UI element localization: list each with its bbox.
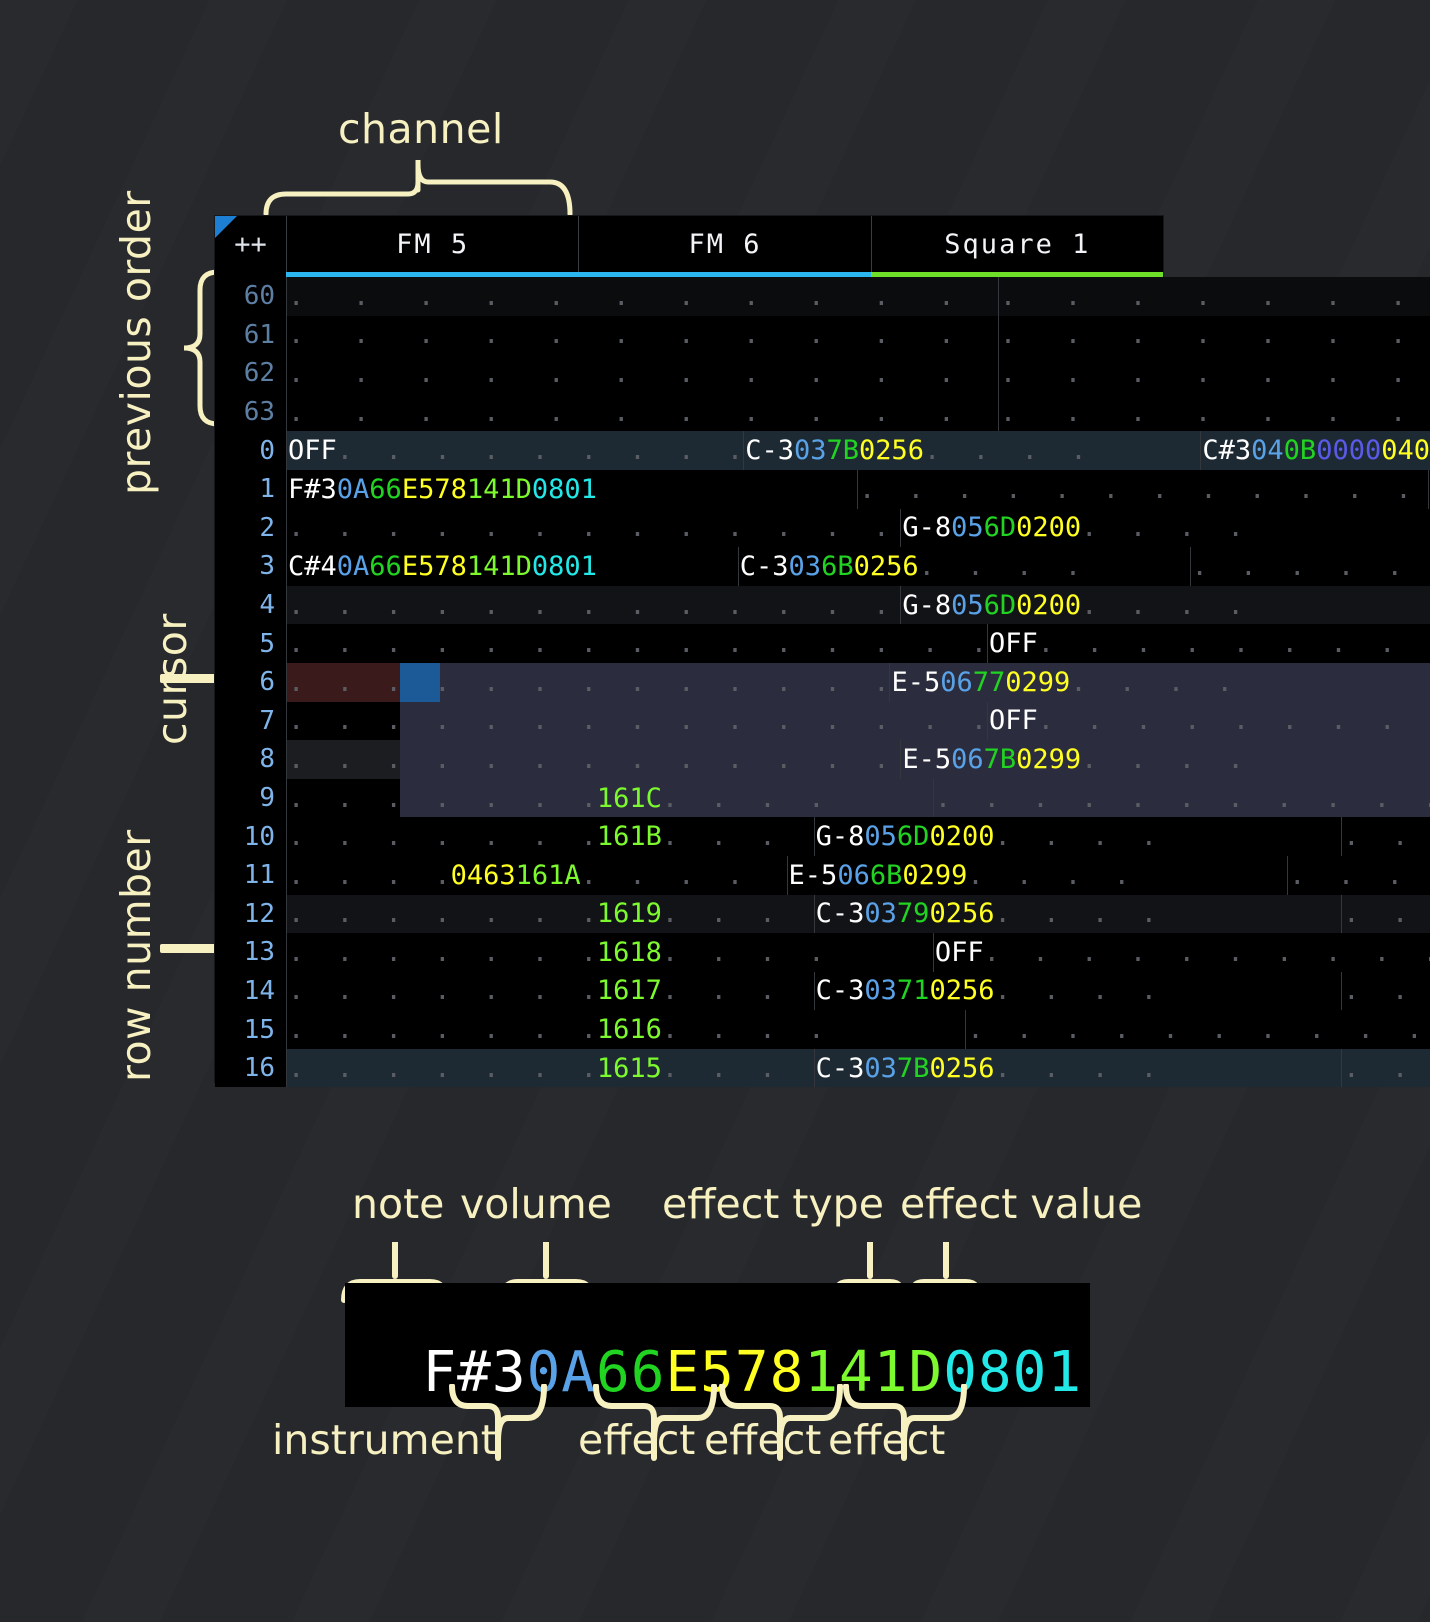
cell-fm6[interactable]: C-3036B0256. . . . (738, 547, 1190, 586)
cell-fm5[interactable]: . . . . . . . . . . . . . . . . . (286, 586, 900, 625)
legend-part-effect2: 141D (804, 1340, 943, 1405)
row-number: 1 (215, 470, 286, 509)
cell-fm6[interactable]: E-5067B0299. . . . (900, 740, 1430, 779)
table-row[interactable]: 12 . . . . . . .1619. . . . C-303790256.… (215, 895, 1163, 934)
table-row[interactable]: 9 . . . . . . .161C. . . . . . . . . . .… (215, 779, 1163, 818)
channel-header-square1[interactable]: Square 1 (871, 216, 1163, 272)
table-row[interactable]: 8 . . . . . . . . . . . . . . . . . E-50… (215, 740, 1163, 779)
annotation-previous-order: previous order (112, 190, 160, 495)
cell-fm6[interactable]: G-8056D0200. . . . (814, 817, 1342, 856)
cell-fm5[interactable]: . . . . . . .161B. . . . (286, 817, 814, 856)
cell-fm6[interactable]: . . . . . . . . . . . (998, 277, 1430, 316)
row-number: 0 (215, 431, 286, 470)
cell-fm6[interactable]: . . . . . . . . . . . . . . . (965, 1010, 1430, 1049)
legend-part-note: F#3 (422, 1340, 526, 1405)
cell-fm5[interactable]: . . . . . . . . . . . . (286, 316, 998, 355)
legend-part-effect1: E578 (665, 1340, 804, 1405)
row-number: 3 (215, 547, 286, 586)
row-number: 14 (215, 972, 286, 1011)
order-indicator-label: ++ (234, 229, 267, 260)
cell-fm5[interactable]: . . . . . . .1619. . . . (286, 895, 814, 934)
row-number: 5 (215, 624, 286, 663)
table-row[interactable]: 62 . . . . . . . . . . . . . . . . . . .… (215, 354, 1163, 393)
cell-fm6[interactable]: . . . . . . . . . . . . . . . (857, 470, 1428, 509)
table-row[interactable]: 7 . . . . . . . . . . . . . . . . . OFF.… (215, 702, 1163, 741)
cell-fm5[interactable]: . . . . . . .1617. . . . (286, 972, 814, 1011)
annotation-channel: channel (338, 105, 504, 153)
legend-label-effect-value: effect value (900, 1180, 1142, 1228)
cell-fm5[interactable]: . . . . . . . . . . . . (286, 277, 998, 316)
order-indicator-cell[interactable]: ++ (215, 216, 286, 272)
cell-fm5[interactable]: F#30A66E578141D0801 (286, 470, 857, 509)
cell-square1[interactable]: . . . . . . . .08. . . . . . . (1190, 547, 1430, 586)
cell-fm5[interactable]: . . . . . . . . . . . . (286, 393, 998, 432)
row-number: 7 (215, 702, 286, 741)
table-row[interactable]: 3 C#40A66E578141D0801 C-3036B0256. . . .… (215, 547, 1163, 586)
legend-label-effect-c: effect (828, 1416, 945, 1464)
cell-fm5[interactable]: C#40A66E578141D0801 (286, 547, 738, 586)
cell-fm6[interactable]: G-8056D0200. . . . (900, 586, 1430, 625)
table-row[interactable]: 13 . . . . . . .1618. . . . OFF. . . . .… (215, 933, 1163, 972)
annotation-row-number: row number (112, 829, 160, 1082)
cell-fm5[interactable]: . . . . . . . . . . . . . . . . . (286, 509, 900, 548)
cell-fm5[interactable]: . . . . . . . . . . . . . . . . . (286, 740, 900, 779)
cell-fm6[interactable]: OFF. . . . . . . . . . . . (933, 933, 1430, 972)
table-row[interactable]: 14 . . . . . . .1617. . . . C-303710256.… (215, 972, 1163, 1011)
cell-fm6[interactable]: OFF. . . . . . . . . . . . (987, 702, 1430, 741)
legend-example-string: F#30A66E578141D0801 (345, 1283, 1090, 1407)
cell-fm6[interactable]: G-8056D0200. . . . (900, 509, 1430, 548)
channel-name-label: Square 1 (944, 229, 1090, 260)
cell-fm6[interactable]: . . . . . . . . . . . (998, 316, 1430, 355)
cell-square1[interactable]: . . . . . . . .0B. . . . . . . (1341, 895, 1430, 934)
table-row[interactable]: 0 OFF. . . . . . . . . . .0A00 C-3037B02… (215, 431, 1163, 470)
table-row[interactable]: 61 . . . . . . . . . . . . . . . . . . .… (215, 316, 1163, 355)
row-number: 2 (215, 509, 286, 548)
row-number: 9 (215, 779, 286, 818)
cell-fm5[interactable]: . . . . . . .1615. . . . (286, 1049, 814, 1088)
cell-fm6[interactable]: E-506770299. . . . (889, 663, 1430, 702)
table-row[interactable]: 11 . . . .0463161A. . . . E-5066B0299. .… (215, 856, 1163, 895)
cell-fm5[interactable]: . . . . . . . . . . . . (286, 354, 998, 393)
row-number: 6 (215, 663, 286, 702)
legend-part-volume: 66 (596, 1340, 665, 1405)
cell-fm6[interactable]: OFF. . . . . . . . . . . . (987, 624, 1430, 663)
cell-square1[interactable]: C#3040B00000400. . . . (1200, 431, 1430, 470)
table-row[interactable]: 1 F#30A66E578141D0801 . . . . . . . . . … (215, 470, 1163, 509)
cell-fm6[interactable]: C-3037B0256. . . . (814, 1049, 1342, 1088)
cell-fm5[interactable]: . . . . . . . . . . . . . . . . . (286, 624, 987, 663)
table-row-cursor[interactable]: 6 . . . . . . . . . . . . . . . . . E-50… (215, 663, 1163, 702)
row-number: 10 (215, 817, 286, 856)
cell-fm5[interactable]: . . . . . . . . . . . . . . . . . (286, 663, 889, 702)
cell-square1[interactable]: . . . . . . . .0C. . . . . . . (1287, 856, 1430, 895)
legend-part-effect3: 0801 (943, 1340, 1082, 1405)
cell-fm6[interactable]: . . . . . . . . . . . (998, 354, 1430, 393)
brace-channel (262, 160, 582, 220)
legend-label-volume: volume (460, 1180, 612, 1228)
row-number: 15 (215, 1010, 286, 1049)
cell-fm6[interactable]: C-303710256. . . . (814, 972, 1342, 1011)
legend-label-effect-b: effect (704, 1416, 821, 1464)
table-row[interactable]: 15 . . . . . . .1616. . . . . . . . . . … (215, 1010, 1163, 1049)
channel-header-row: ++ FM 5 FM 6 Square 1 (215, 216, 1163, 272)
cell-fm5[interactable]: . . . . . . .161C. . . . (286, 779, 933, 818)
legend-label-note: note (352, 1180, 444, 1228)
row-number: 8 (215, 740, 286, 779)
row-number: 4 (215, 586, 286, 625)
cell-fm5[interactable]: . . . .0463161A. . . . (286, 856, 787, 895)
channel-header-fm5[interactable]: FM 5 (286, 216, 578, 272)
row-number: 16 (215, 1049, 286, 1088)
annotation-cursor: cursor (148, 613, 196, 745)
channel-header-fm6[interactable]: FM 6 (578, 216, 870, 272)
cell-square1[interactable]: . . . . . . . .09. . . . . . . (1341, 1049, 1430, 1088)
cell-fm5[interactable]: OFF. . . . . . . . . . .0A00 (286, 431, 743, 470)
row-number: 11 (215, 856, 286, 895)
cell-square1[interactable]: . . . . . . . .0A. . . . . . . (1341, 972, 1430, 1011)
pattern-editor[interactable]: ++ FM 5 FM 6 Square 1 60 . . . . . . . .… (215, 216, 1163, 1082)
legend-part-instrument: 0A (527, 1340, 596, 1405)
legend-label-effect-type: effect type (662, 1180, 884, 1228)
table-row[interactable]: 2 . . . . . . . . . . . . . . . . . G-80… (215, 509, 1163, 548)
cell-fm5[interactable]: . . . . . . . . . . . . . . . . . (286, 702, 987, 741)
cell-fm6[interactable]: C-3037B0256. . . . (743, 431, 1200, 470)
rownumber-pointer-line (160, 944, 222, 953)
table-row[interactable]: 5 . . . . . . . . . . . . . . . . . OFF.… (215, 624, 1163, 663)
cell-fm6[interactable]: E-5066B0299. . . . (787, 856, 1288, 895)
table-row[interactable]: 10 . . . . . . .161B. . . . G-8056D0200.… (215, 817, 1163, 856)
channel-name-label: FM 6 (688, 229, 761, 260)
cell-square1[interactable]: . . . . . . . .0D. . . . . . . (1341, 817, 1430, 856)
table-row[interactable]: 16 . . . . . . .1615. . . . C-3037B0256.… (215, 1049, 1163, 1088)
row-number: 63 (215, 393, 286, 432)
row-number: 12 (215, 895, 286, 934)
cell-fm5[interactable]: . . . . . . .1616. . . . (286, 1010, 965, 1049)
row-number: 62 (215, 354, 286, 393)
corner-triangle-icon (215, 216, 237, 238)
row-number: 13 (215, 933, 286, 972)
cell-fm6[interactable]: C-303790256. . . . (814, 895, 1342, 934)
row-number: 61 (215, 316, 286, 355)
cell-fm6[interactable]: . . . . . . . . . . . . . . . (933, 779, 1430, 818)
cell-fm5[interactable]: . . . . . . .1618. . . . (286, 933, 933, 972)
table-row[interactable]: 63 . . . . . . . . . . . . . . . . . . .… (215, 393, 1163, 432)
row-number: 60 (215, 277, 286, 316)
legend-label-instrument: instrument (272, 1416, 497, 1464)
table-row[interactable]: 60 . . . . . . . . . . . . . . . . . . .… (215, 277, 1163, 316)
legend-label-effect-a: effect (578, 1416, 695, 1464)
table-row[interactable]: 4 . . . . . . . . . . . . . . . . . G-80… (215, 586, 1163, 625)
channel-name-label: FM 5 (396, 229, 469, 260)
cell-fm6[interactable]: . . . . . . . . . . . (998, 393, 1430, 432)
